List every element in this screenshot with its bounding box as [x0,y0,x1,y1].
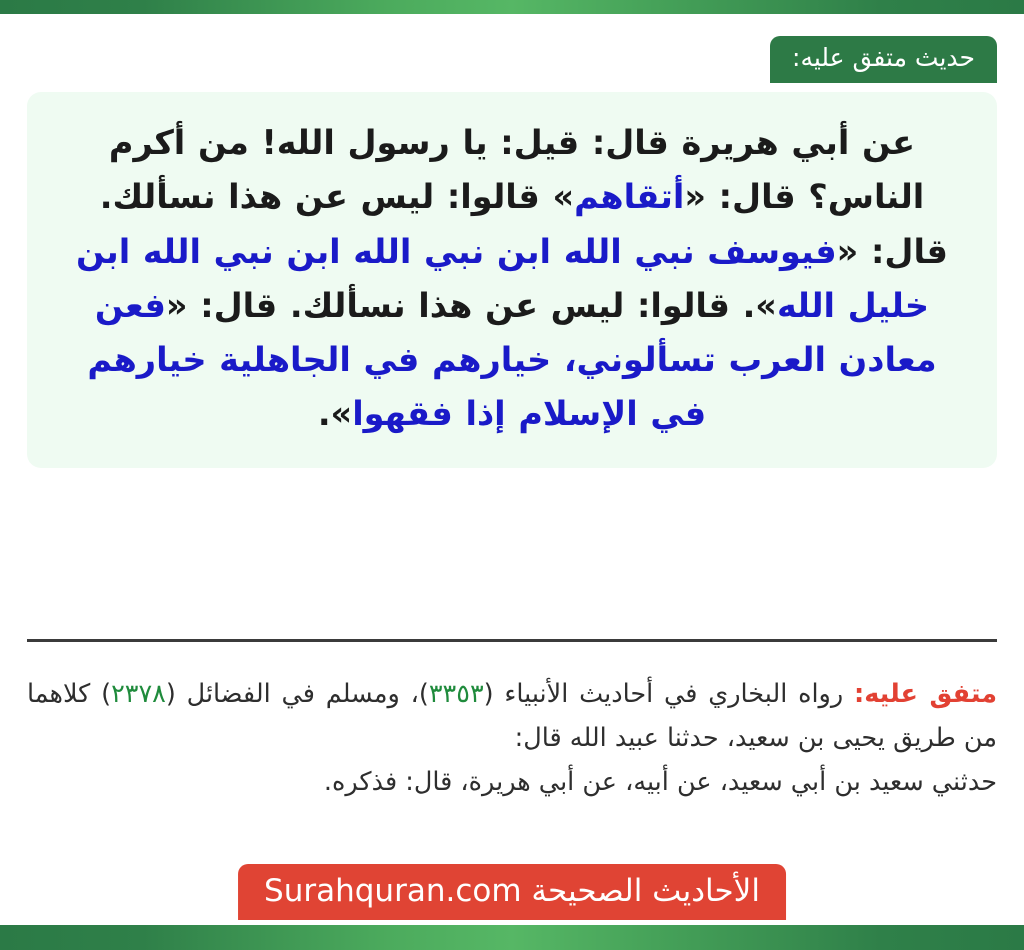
hadith-text: عن أبي هريرة قال: قيل: يا رسول الله! من … [61,116,963,442]
bottom-gradient-bar [0,925,1024,950]
citation-text-part: رواه البخاري في أحاديث الأنبياء ( [484,679,854,709]
hadith-segment-plain: ». [318,394,352,433]
citation-reference-number: ٢٣٧٨ [111,679,166,709]
citation-reference-number: ٣٣٥٣ [429,679,484,709]
citation-text-part: )، ومسلم في الفضائل ( [166,679,429,709]
citation-chain-line: حدثني سعيد بن أبي سعيد، عن أبيه، عن أبي … [27,760,997,804]
hadith-grade-badge: حديث متفق عليه: [770,36,997,83]
hadith-card: عن أبي هريرة قال: قيل: يا رسول الله! من … [27,92,997,468]
citation-grade-label: متفق عليه: [854,679,997,709]
citation-paragraph: متفق عليه: رواه البخاري في أحاديث الأنبي… [27,672,997,760]
section-divider [27,639,997,642]
citation-block: متفق عليه: رواه البخاري في أحاديث الأنبي… [27,672,997,804]
hadith-segment-highlight: أتقاهم [574,177,684,216]
hadith-segment-plain: ». قالوا: ليس عن هذا نسألك. قال: « [166,286,777,325]
top-gradient-bar [0,0,1024,14]
site-branding-badge[interactable]: الأحاديث الصحيحة Surahquran.com [238,864,786,920]
